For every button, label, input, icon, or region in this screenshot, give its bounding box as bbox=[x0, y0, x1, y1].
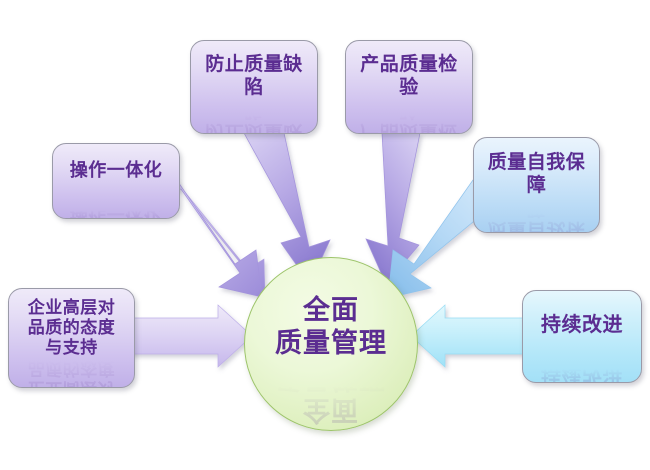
node-label-reflection: 质量自我保 障 bbox=[474, 196, 599, 233]
hub-text-block: 全面 质量管理 全面 质量管理 bbox=[275, 263, 387, 425]
node-leadership-support[interactable]: 企业高层对 品质的态度 与支持 企业高层对 品质的态度 与支持 bbox=[8, 288, 135, 388]
node-label: 操作一体化 bbox=[53, 160, 179, 181]
node-text-block: 持续改进 持续改进 bbox=[523, 290, 641, 383]
node-text-block: 操作一体化 操作一体化 bbox=[53, 143, 179, 219]
node-label-reflection: 防止质量缺 陷 bbox=[191, 98, 317, 134]
hub-label-reflection: 全面 质量管理 bbox=[275, 360, 387, 425]
node-text-block: 防止质量缺 陷 防止质量缺 陷 bbox=[191, 40, 317, 134]
node-text-block: 质量自我保 障 质量自我保 障 bbox=[474, 137, 599, 233]
node-label: 防止质量缺 陷 bbox=[191, 53, 317, 98]
node-label: 产品质量检 验 bbox=[346, 53, 472, 98]
node-prevent-defects[interactable]: 防止质量缺 陷 防止质量缺 陷 bbox=[190, 40, 318, 134]
node-label-reflection: 持续改进 bbox=[523, 360, 641, 383]
node-layer: 全面 质量管理 全面 质量管理 防止质量缺 陷 防止质量缺 陷 产品质量检 验 … bbox=[0, 0, 650, 470]
node-text-block: 产品质量检 验 产品质量检 验 bbox=[346, 40, 472, 134]
node-label-reflection: 产品质量检 验 bbox=[346, 98, 472, 134]
node-label: 企业高层对 品质的态度 与支持 bbox=[9, 298, 134, 358]
node-label: 质量自我保 障 bbox=[474, 151, 599, 196]
diagram-canvas: 全面 质量管理 全面 质量管理 防止质量缺 陷 防止质量缺 陷 产品质量检 验 … bbox=[0, 0, 650, 470]
node-text-block: 企业高层对 品质的态度 与支持 企业高层对 品质的态度 与支持 bbox=[9, 288, 134, 388]
node-label: 持续改进 bbox=[523, 313, 641, 337]
node-label-reflection: 操作一体化 bbox=[53, 202, 179, 219]
node-product-inspection[interactable]: 产品质量检 验 产品质量检 验 bbox=[345, 40, 473, 134]
node-self-quality-assurance[interactable]: 质量自我保 障 质量自我保 障 bbox=[473, 137, 600, 233]
hub-label: 全面 质量管理 bbox=[275, 295, 387, 360]
node-integrated-operation[interactable]: 操作一体化 操作一体化 bbox=[52, 143, 180, 219]
node-continuous-improvement[interactable]: 持续改进 持续改进 bbox=[522, 290, 642, 383]
hub-total-quality-management[interactable]: 全面 质量管理 全面 质量管理 bbox=[244, 257, 418, 431]
